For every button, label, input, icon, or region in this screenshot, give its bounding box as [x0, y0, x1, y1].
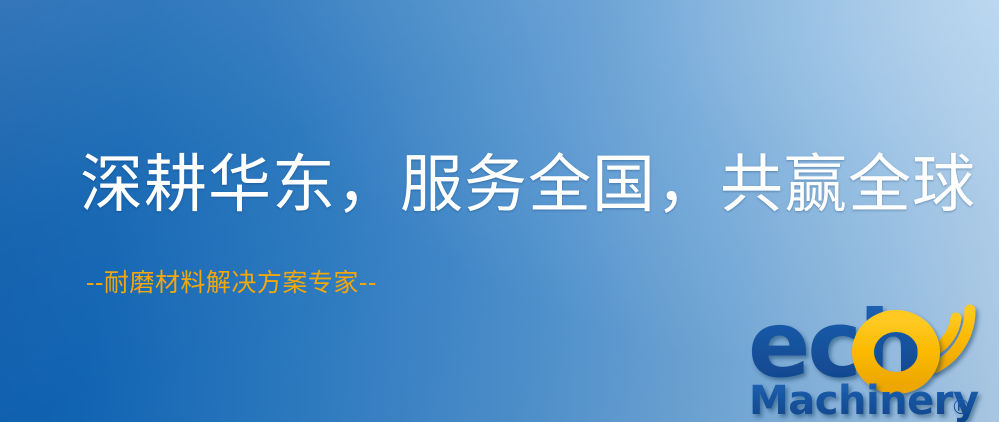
brand-logo[interactable]: ech Machinery ® [748, 296, 999, 422]
page-title: 深耕华东，服务全国，共赢全球 [80, 148, 976, 222]
hero-banner: 深耕华东，服务全国，共赢全球 --耐磨材料解决方案专家-- [0, 0, 999, 422]
logo-registered-mark: ® [951, 395, 971, 419]
logo-tagline: Machinery [749, 378, 979, 422]
page-subtitle: --耐磨材料解决方案专家-- [86, 268, 377, 298]
